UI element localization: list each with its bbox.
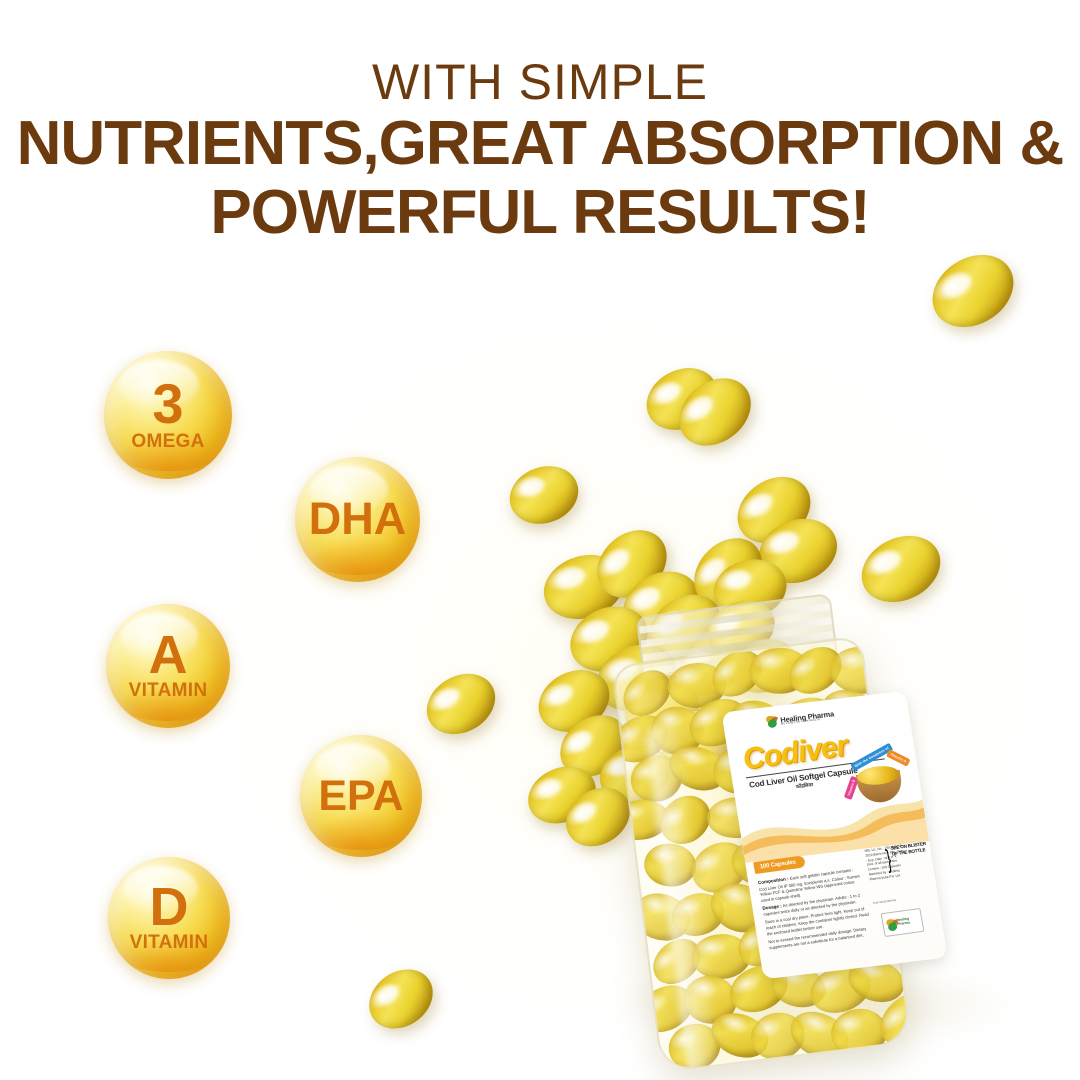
headline-line-2: NUTRIENTS,GREAT ABSORPTION & xyxy=(0,109,1080,178)
softgel-capsule xyxy=(358,957,445,1041)
bubble-main-label: 3 xyxy=(152,377,183,430)
headline-line-3: POWERFUL RESULTS! xyxy=(0,178,1080,247)
bubble-main-label: EPA xyxy=(318,776,403,817)
brand-mark-box: Healing Pharma xyxy=(881,908,925,937)
leaf-icon xyxy=(885,918,896,930)
poster-canvas: WITH SIMPLE NUTRIENTS,GREAT ABSORPTION &… xyxy=(0,0,1080,1080)
nutrient-bubble-epa: EPA xyxy=(300,735,422,857)
bubble-main-label: DHA xyxy=(309,498,407,541)
softgel-capsule xyxy=(502,457,587,534)
jar-capsule xyxy=(829,645,894,695)
nutrient-bubble-omega-3: 3 OMEGA xyxy=(104,351,232,479)
bubble-main-label: A xyxy=(149,630,188,681)
nutrient-bubble-dha: DHA xyxy=(295,457,420,582)
brand-mark-name: Healing Pharma xyxy=(896,916,920,927)
brand-logo: Healing Pharma WE CARE FOR YOUR HEALTH xyxy=(765,708,835,729)
headline-block: WITH SIMPLE NUTRIENTS,GREAT ABSORPTION &… xyxy=(0,56,1080,248)
softgel-capsule xyxy=(919,240,1027,342)
label-body-text: Composition : Each soft gelatin capsule … xyxy=(758,866,874,952)
product-hindi-name: कॉडलिवर xyxy=(796,782,814,790)
nutrient-bubble-vitamin-a: A VITAMIN xyxy=(106,604,230,728)
nutrient-bubble-vitamin-d: D VITAMIN xyxy=(108,857,230,979)
bubble-main-label: D xyxy=(150,882,189,933)
softgel-capsule xyxy=(416,662,506,746)
ribbon-vitamin-a: Vitamin A xyxy=(886,749,911,767)
veg-label: FOR VEGETARIAN xyxy=(873,899,896,905)
leaf-icon xyxy=(765,715,780,729)
bubble-sub-label: VITAMIN xyxy=(130,932,209,954)
bubble-sub-label: OMEGA xyxy=(131,431,204,453)
brand-tagline: WE CARE FOR YOUR HEALTH xyxy=(781,717,835,726)
bubble-sub-label: VITAMIN xyxy=(129,680,208,702)
brand-name: Healing Pharma WE CARE FOR YOUR HEALTH xyxy=(780,710,835,726)
headline-line-1: WITH SIMPLE xyxy=(0,56,1080,109)
